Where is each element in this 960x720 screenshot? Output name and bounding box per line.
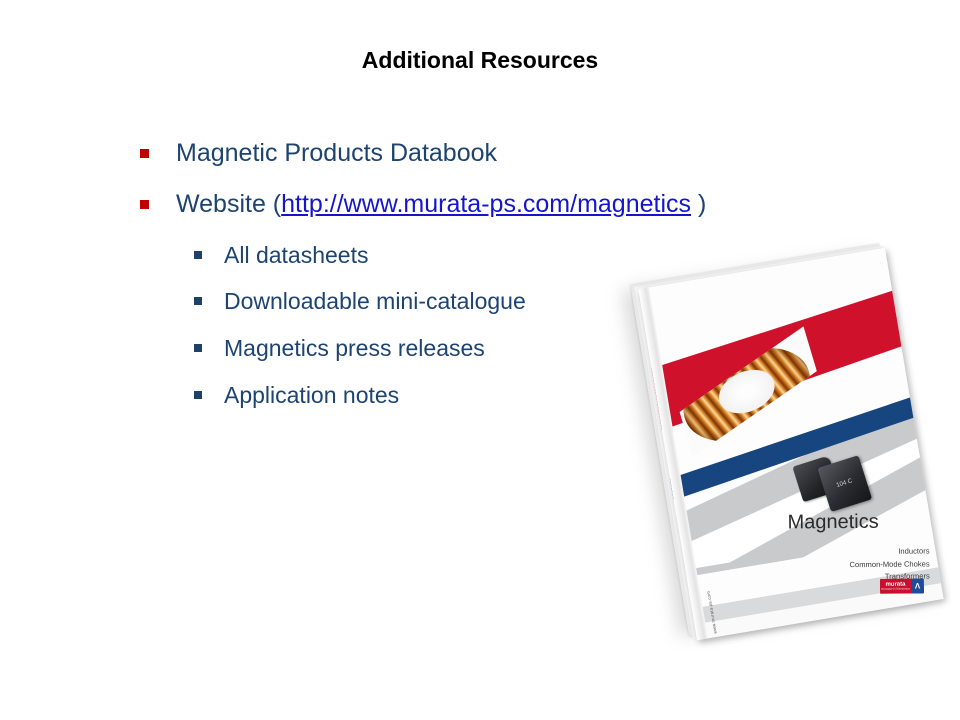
- website-prefix-text: Website (: [176, 190, 281, 218]
- website-suffix-text: ): [691, 190, 706, 218]
- list-item-website: Website (http://www.murata-ps.com/magnet…: [140, 189, 780, 220]
- cover-title: Magnetics: [787, 511, 878, 535]
- list-item: Magnetic Products Databook: [140, 138, 780, 169]
- murata-logo: murata Innovator in Electronics Λ: [879, 578, 923, 593]
- magnetics-databook-image: 104 C Magnetics Inductors Common-Mode Ch…: [632, 248, 948, 648]
- murata-logo-wordmark: murata Innovator in Electronics: [879, 578, 910, 593]
- cover-subtitle-chokes: Common-Mode Chokes: [754, 558, 929, 572]
- square-bullet-icon: [140, 149, 149, 158]
- list-item-label: Website (http://www.murata-ps.com/magnet…: [176, 189, 706, 220]
- square-bullet-icon: [194, 391, 202, 399]
- cover-subtitle-inductors: Inductors: [754, 545, 929, 559]
- list-item-label: All datasheets: [224, 241, 368, 270]
- square-bullet-icon: [194, 251, 202, 259]
- murata-logo-tagline: Innovator in Electronics: [880, 587, 909, 590]
- list-item-label: Downloadable mini-catalogue: [224, 287, 526, 316]
- magnetics-website-link[interactable]: http://www.murata-ps.com/magnetics: [281, 190, 691, 218]
- list-item-label: Magnetic Products Databook: [176, 138, 497, 169]
- square-bullet-icon: [140, 200, 149, 209]
- list-item-label: Application notes: [224, 381, 399, 410]
- slide: Additional Resources Magnetic Products D…: [0, 0, 960, 720]
- component-marking-label: 104 C: [836, 478, 854, 490]
- square-bullet-icon: [194, 344, 202, 352]
- murata-logo-mark-icon: Λ: [910, 578, 923, 593]
- square-bullet-icon: [194, 297, 202, 305]
- page-title: Additional Resources: [0, 47, 960, 74]
- list-item-label: Magnetics press releases: [224, 334, 485, 363]
